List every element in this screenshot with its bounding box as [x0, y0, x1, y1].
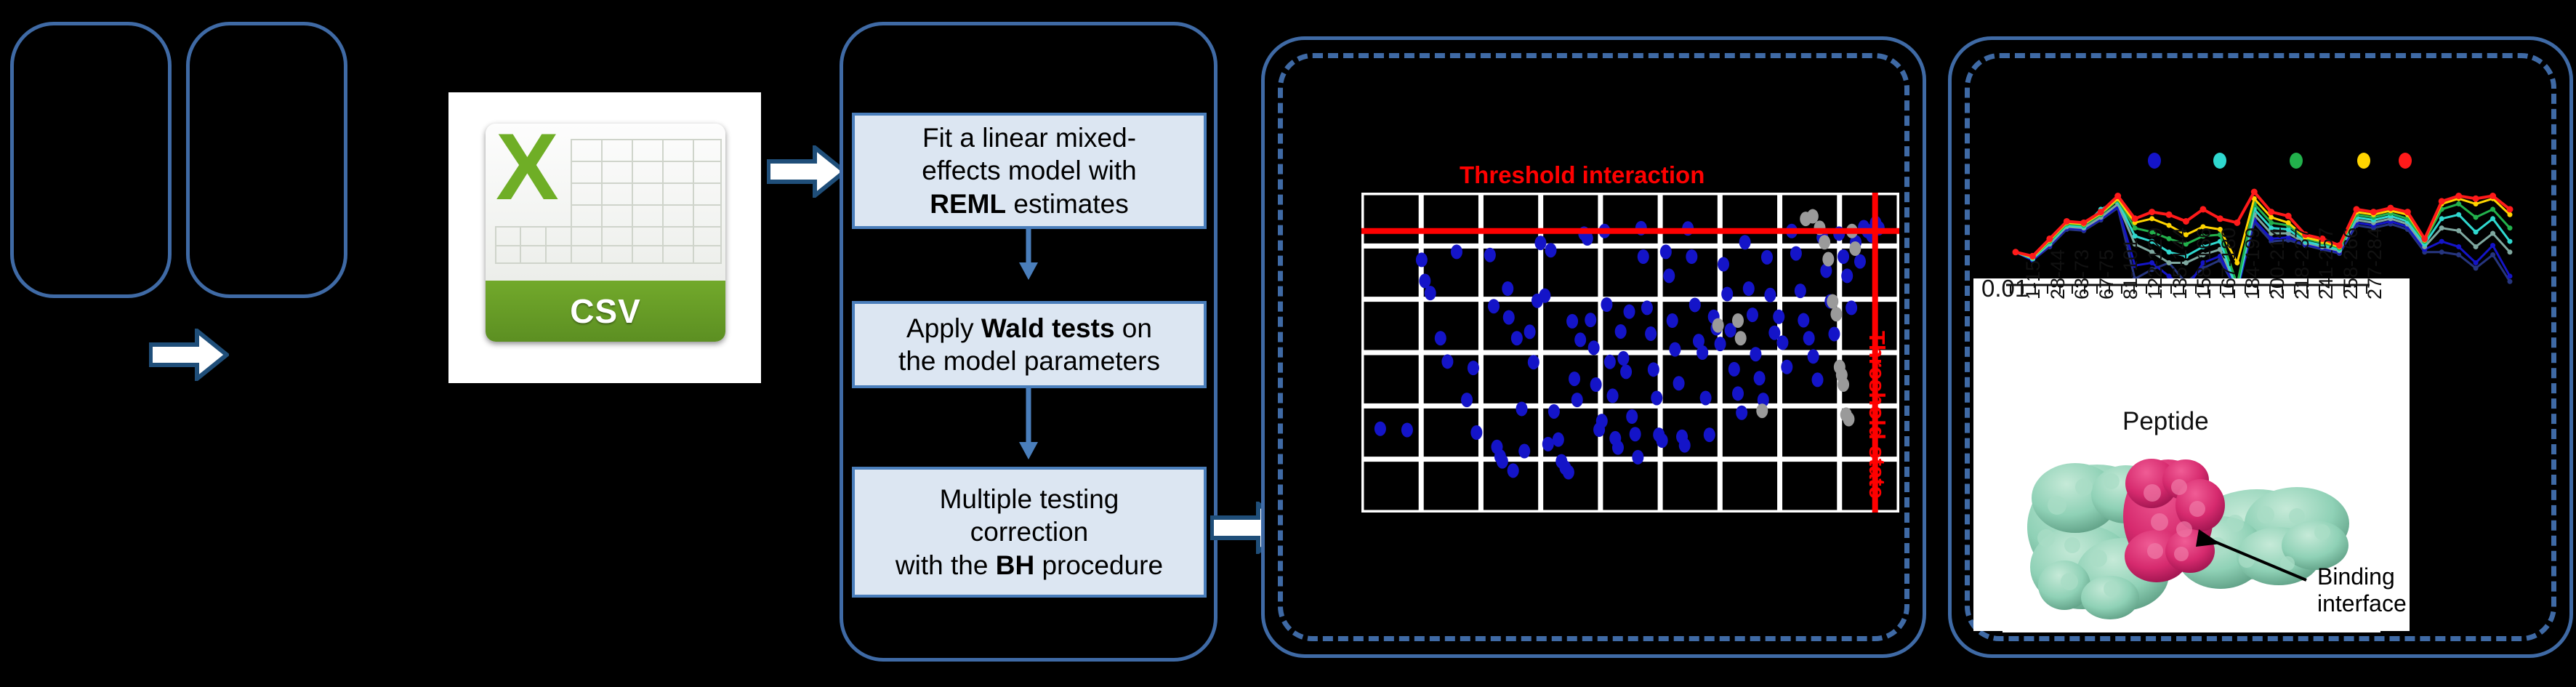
- peptide-tick-label: 1-15: [2022, 260, 2045, 300]
- arrow-into-panel-1: [149, 329, 229, 381]
- figure-canvas: X CSV Fit a linear mixed- effects model …: [0, 0, 2576, 687]
- threshold-state-label: Threshold state: [1864, 331, 1890, 499]
- binding-interface-line-1: Binding: [2317, 563, 2407, 590]
- peptide-tick-label: 67-75: [2096, 249, 2118, 300]
- binding-interface-callout: Binding interface: [2317, 563, 2407, 617]
- arrow-step-model-to-wald: [1016, 229, 1041, 281]
- peptide-tick-label: 81-101: [2120, 238, 2142, 300]
- step-model-box: Fit a linear mixed- effects model with R…: [852, 113, 1207, 229]
- peptide-legend-dot: [2213, 153, 2226, 169]
- peptide-tick-label: 28-44: [2047, 249, 2069, 300]
- step-wald-box: Apply Wald tests on the model parameters: [852, 301, 1207, 388]
- peptide-tick-label: 241-257: [2315, 228, 2338, 300]
- csv-icon-badge: X CSV: [486, 124, 725, 342]
- peptide-tick-label: 200-214: [2266, 228, 2289, 300]
- csv-icon-footer-label: CSV: [570, 292, 641, 331]
- panel-5-bottom-mask: [1948, 658, 2576, 687]
- csv-icon-x-letter: X: [496, 124, 559, 214]
- peptide-tick-label: 135-144: [2169, 228, 2191, 300]
- step-bh-text: Multiple testing correction with the BH …: [895, 483, 1163, 581]
- peptide-tick-label: 184-199: [2242, 228, 2264, 300]
- peptide-tick-label: 218-237: [2291, 228, 2314, 300]
- arrow-panel2-to-panel3: [767, 145, 847, 198]
- peptide-legend-dot: [2148, 153, 2161, 169]
- panel-1-container: [10, 22, 172, 298]
- peptide-axis-title: Peptide: [2122, 407, 2209, 436]
- peptide-tick-label: 277-284: [2364, 228, 2386, 300]
- threshold-interaction-label: Threshold interaction: [1460, 161, 1704, 189]
- threshold-scatter-plot: [1361, 193, 1899, 513]
- peptide-legend-dot: [2399, 153, 2412, 169]
- peptide-tick-label: 258-266: [2340, 228, 2362, 300]
- step-wald-text: Apply Wald tests on the model parameters: [898, 312, 1160, 377]
- step-model-text: Fit a linear mixed- effects model with R…: [922, 121, 1136, 220]
- peptide-legend-dot: [2357, 153, 2370, 169]
- peptide-tick-label: 63-73: [2071, 249, 2093, 300]
- step-bh-box: Multiple testing correction with the BH …: [852, 467, 1207, 598]
- peptide-legend-dot: [2290, 153, 2303, 169]
- scatter-svg: [1361, 193, 1899, 513]
- peptide-tick-label: 122-129: [2144, 228, 2167, 300]
- peptide-tick-label: 158-166: [2193, 228, 2215, 300]
- arrow-step-wald-to-bh: [1016, 388, 1041, 461]
- panel-2-container: [186, 22, 347, 298]
- csv-icon-footer: CSV: [486, 281, 725, 342]
- csv-icon-spreadsheet: X: [486, 124, 725, 281]
- peptide-tick-label: 167-180: [2218, 228, 2240, 300]
- binding-interface-line-2: interface: [2317, 590, 2407, 617]
